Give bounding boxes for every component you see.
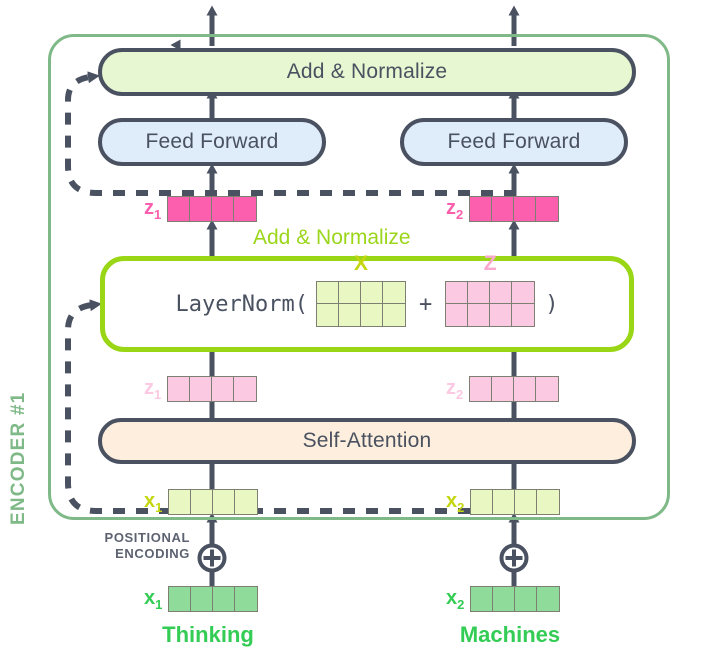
vector-x1-mid-cells [168,489,258,515]
vector-x2-mid-label: x2 [446,491,464,514]
vector-z2-top-label: z2 [446,198,463,221]
vector-x1-mid: x1 [144,489,258,515]
circle-plus-icon-right [502,546,527,571]
layer-norm-box[interactable]: LayerNorm( X + Z ) [100,256,634,352]
vector-z1-mid-cells [167,376,257,402]
positional-encoding-label: POSITIONAL ENCODING [90,530,190,563]
vector-z2-top: z2 [446,196,559,222]
vector-x2-mid: x2 [446,489,560,515]
vector-x1-mid-label: x1 [144,491,162,514]
circle-plus-icon-left [200,546,225,571]
vector-z2-mid-cells [469,376,559,402]
vector-z2-top-cells [469,196,559,222]
layer-norm-suffix: ) [545,292,558,317]
vector-z1-top-label: z1 [144,198,161,221]
vector-z2-mid: z2 [446,376,559,402]
vector-z1-top: z1 [144,196,257,222]
matrix-x-label: X [316,252,406,276]
add-normalize-top-label: Add & Normalize [287,60,448,84]
input-word-left: Thinking [118,622,298,648]
feed-forward-left-box[interactable]: Feed Forward [98,118,326,166]
layer-norm-plus: + [419,292,432,317]
self-attention-box[interactable]: Self-Attention [98,418,636,464]
positional-encoding-line2: ENCODING [90,546,190,562]
feed-forward-left-label: Feed Forward [145,130,278,154]
vector-z1-mid-label: z1 [144,378,161,401]
matrix-z: Z [445,281,535,327]
vector-x1-bottom-cells [168,586,258,612]
layer-norm-prefix: LayerNorm( [176,292,308,317]
feed-forward-right-box[interactable]: Feed Forward [400,118,628,166]
self-attention-label: Self-Attention [303,429,432,453]
vector-z1-top-cells [167,196,257,222]
input-word-right: Machines [420,622,600,648]
positional-encoding-line1: POSITIONAL [90,530,190,546]
add-normalize-inner-label: Add & Normalize [253,226,411,250]
vector-x2-mid-cells [470,489,560,515]
transformer-encoder-diagram: ENCODER #1 Add & Normalize Feed Forward … [0,0,712,666]
encoder-label: ENCODER #1 [8,392,30,525]
vector-x1-bottom-label: x1 [144,588,162,611]
vector-x1-bottom: x1 [144,586,258,612]
vector-z2-mid-label: z2 [446,378,463,401]
feed-forward-right-label: Feed Forward [447,130,580,154]
add-normalize-top-box[interactable]: Add & Normalize [98,48,636,96]
vector-x2-bottom-cells [470,586,560,612]
matrix-z-label: Z [445,252,535,276]
vector-x2-bottom: x2 [446,586,560,612]
vector-x2-bottom-label: x2 [446,588,464,611]
matrix-x: X [316,281,406,327]
vector-z1-mid: z1 [144,376,257,402]
